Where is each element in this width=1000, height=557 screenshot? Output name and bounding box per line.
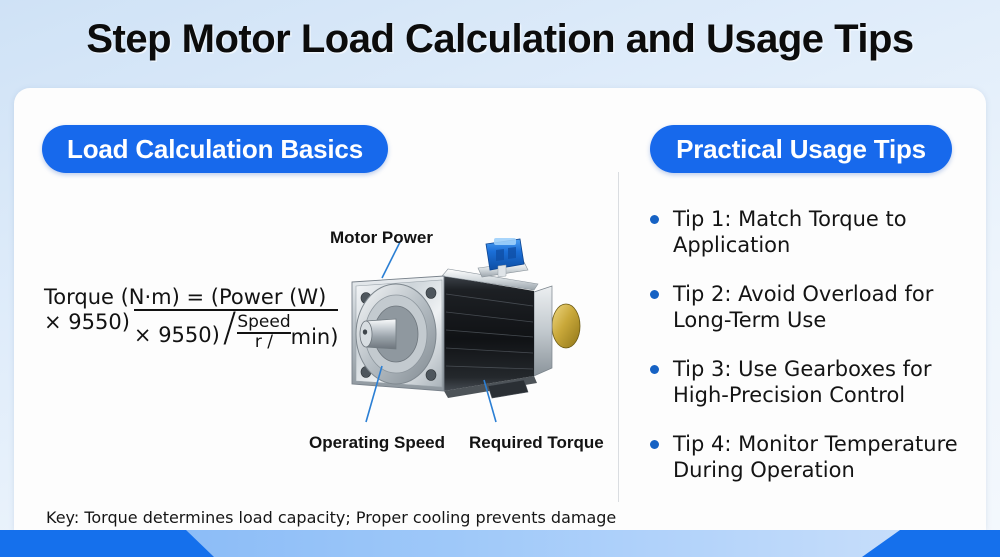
bullet-icon xyxy=(650,365,659,374)
formula-division-slash: / xyxy=(220,314,237,343)
callout-label-motor-power: Motor Power xyxy=(330,228,433,248)
bullet-icon xyxy=(650,215,659,224)
callout-label-operating-speed: Operating Speed xyxy=(309,433,445,453)
list-item: Tip 1: Match Torque to Application xyxy=(650,206,968,259)
tip-text: Tip 4: Monitor Temperature During Operat… xyxy=(673,431,968,484)
torque-formula: Torque (N·m) = (Power (W) × 9550) × 9550… xyxy=(44,286,334,350)
callout-label-required-torque: Required Torque xyxy=(469,433,604,453)
formula-line-1: Torque (N·m) = (Power (W) xyxy=(44,286,334,308)
page-title: Step Motor Load Calculation and Usage Ti… xyxy=(0,17,1000,62)
section-heading-practical-usage-tips: Practical Usage Tips xyxy=(650,125,952,173)
tip-text: Tip 3: Use Gearboxes for High-Precision … xyxy=(673,356,968,409)
formula-lead: × 9550) xyxy=(44,309,130,333)
list-item: Tip 4: Monitor Temperature During Operat… xyxy=(650,431,968,484)
formula-fraction-row: × 9550) × 9550) / Speed r / min) xyxy=(44,309,334,350)
tip-text: Tip 1: Match Torque to Application xyxy=(673,206,968,259)
formula-tail: min) xyxy=(291,314,339,348)
tip-text: Tip 2: Avoid Overload for Long-Term Use xyxy=(673,281,968,334)
formula-unit-denominator: r / xyxy=(237,332,290,351)
step-motor-illustration xyxy=(338,236,626,426)
formula-speed-unit: Speed r / xyxy=(237,314,290,350)
formula-unit-numerator: Speed xyxy=(237,314,290,331)
usage-tips-list: Tip 1: Match Torque to Application Tip 2… xyxy=(650,206,968,506)
bullet-icon xyxy=(650,440,659,449)
bottom-decorative-bar xyxy=(0,530,1000,557)
formula-denominator-left: × 9550) xyxy=(134,314,220,346)
bullet-icon xyxy=(650,290,659,299)
list-item: Tip 2: Avoid Overload for Long-Term Use xyxy=(650,281,968,334)
footer-key-text: Key: Torque determines load capacity; Pr… xyxy=(46,508,616,527)
formula-fraction: × 9550) / Speed r / min) xyxy=(134,309,339,350)
section-heading-load-calculation-basics: Load Calculation Basics xyxy=(42,125,388,173)
list-item: Tip 3: Use Gearboxes for High-Precision … xyxy=(650,356,968,409)
